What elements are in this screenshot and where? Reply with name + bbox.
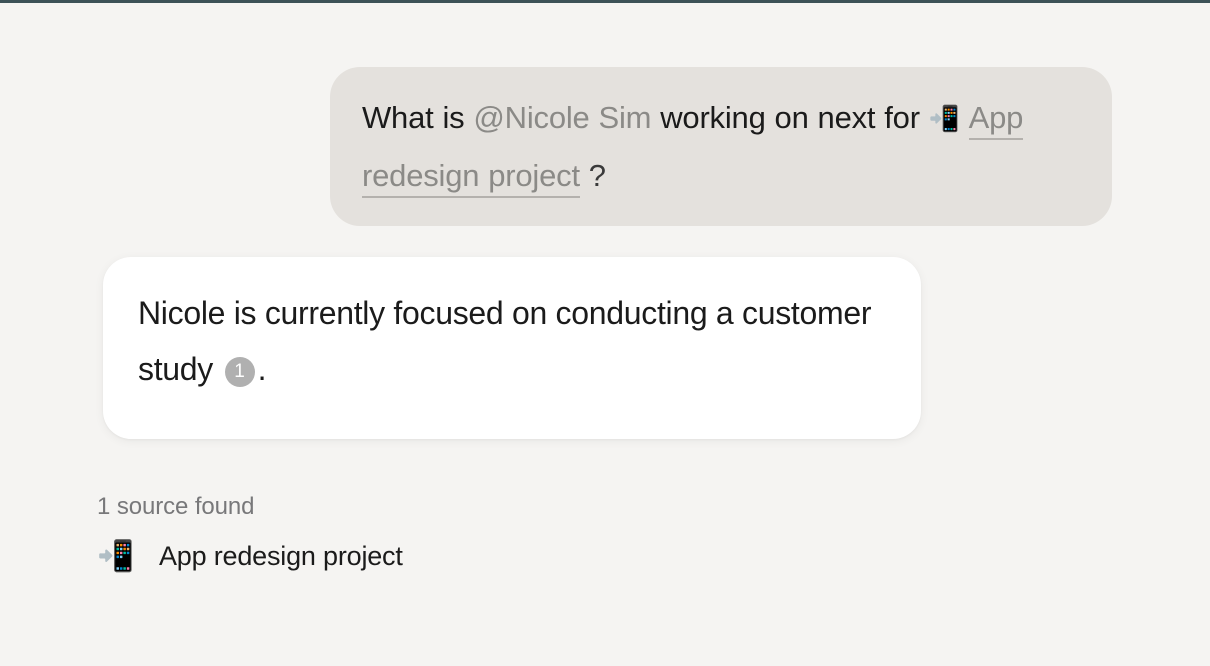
citation-badge-1[interactable]: 1: [225, 357, 255, 387]
answer-period: .: [258, 351, 267, 387]
question-middle: working on next for: [651, 100, 928, 135]
top-accent-bar: [0, 0, 1210, 3]
list-item[interactable]: 📲 App redesign project: [97, 541, 797, 572]
sources-count-label: 1 source found: [97, 493, 797, 521]
mobile-phone-with-arrow-icon: 📲: [929, 104, 960, 133]
sources-section: 1 source found 📲 App redesign project: [97, 493, 797, 572]
question-prefix: What is: [362, 100, 473, 135]
question-text: What is @Nicole Sim working on next for …: [362, 89, 1078, 204]
question-suffix: ?: [589, 158, 606, 193]
mobile-phone-with-arrow-icon: 📲: [97, 542, 139, 572]
answer-text: Nicole is currently focused on conductin…: [138, 285, 885, 397]
answer-card: Nicole is currently focused on conductin…: [103, 257, 921, 439]
source-title: App redesign project: [159, 541, 403, 572]
user-mention-chip[interactable]: @Nicole Sim: [473, 100, 651, 135]
question-bubble: What is @Nicole Sim working on next for …: [330, 67, 1112, 226]
